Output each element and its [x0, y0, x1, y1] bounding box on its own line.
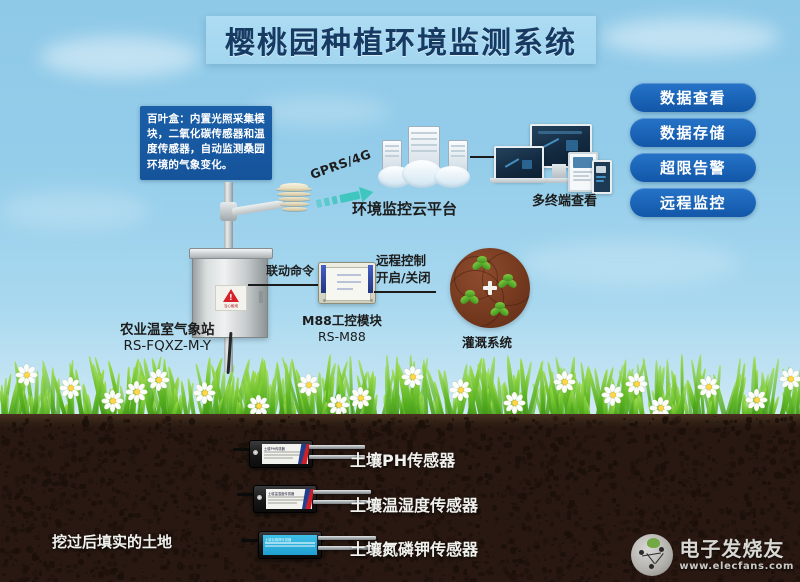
soil-grain	[5, 536, 11, 542]
soil-grain	[429, 484, 431, 486]
soil-grain	[267, 423, 271, 427]
link-command-label: 联动命令	[266, 262, 314, 279]
soil-grain	[241, 455, 247, 460]
soil-grain	[689, 521, 692, 524]
soil-grain	[174, 549, 178, 552]
soil-grain	[562, 422, 566, 425]
soil-grain	[538, 425, 543, 431]
soil-grain	[235, 542, 238, 545]
daisy-flower	[196, 384, 213, 401]
soil-grain	[719, 508, 725, 514]
daisy-flower	[506, 394, 523, 411]
soil-grain	[711, 529, 715, 534]
soil-grain	[8, 497, 12, 500]
soil-grain	[763, 496, 767, 500]
soil-grain	[195, 542, 198, 544]
soil-grain	[634, 519, 639, 522]
soil-grain	[470, 578, 476, 582]
soil-grain	[635, 504, 637, 505]
soil-grain	[442, 566, 444, 568]
feature-button-data-storage[interactable]: 数据存储	[630, 118, 756, 147]
soil-grain	[442, 574, 445, 577]
soil-grain	[198, 519, 200, 521]
soil-grain	[538, 559, 540, 562]
soil-grain	[373, 574, 375, 576]
soil-grain	[165, 472, 171, 476]
soil-grain	[234, 510, 238, 513]
soil-grain	[332, 426, 334, 428]
soil-grain	[195, 475, 197, 476]
soil-grain	[227, 549, 230, 551]
soil-grain	[797, 435, 800, 438]
feature-button-remote-monitor[interactable]: 远程监控	[630, 188, 756, 217]
soil-grain	[147, 519, 153, 524]
soil-grain	[690, 485, 692, 487]
soil-grain	[200, 506, 206, 511]
soil-grain	[19, 569, 21, 571]
soil-grain	[163, 502, 167, 507]
soil-grain	[730, 495, 733, 498]
soil-grain	[230, 483, 232, 486]
soil-grain	[1, 539, 4, 542]
weather-station-name: 农业温室气象站	[120, 318, 215, 338]
soil-grain	[328, 529, 330, 531]
soil-grain	[69, 436, 71, 438]
soil-grain	[44, 425, 49, 428]
soil-grain	[6, 526, 8, 529]
soil-grain	[312, 477, 318, 481]
irrigation-label: 灌溉系统	[462, 332, 512, 351]
soil-grain	[356, 442, 358, 443]
soil-grain	[770, 507, 772, 509]
soil-grain	[529, 436, 534, 440]
soil-grain	[790, 481, 792, 483]
soil-grain	[686, 490, 691, 495]
soil-grain	[749, 437, 755, 443]
soil-grain	[581, 493, 583, 495]
phone-screen	[592, 160, 612, 194]
soil-grain	[663, 489, 668, 492]
soil-grain	[614, 499, 616, 500]
soil-grain	[332, 439, 337, 443]
soil-grain	[313, 458, 319, 464]
soil-grain	[608, 432, 611, 435]
soil-grain	[313, 434, 318, 440]
soil-grain	[750, 448, 752, 450]
soil-grain	[2, 521, 5, 523]
soil-grain	[596, 513, 598, 515]
soil-grain	[394, 519, 397, 522]
soil-grain	[506, 559, 509, 563]
soil-grain	[489, 438, 493, 440]
soil-grain	[332, 449, 334, 452]
soil-grain	[208, 555, 213, 558]
daisy-flower	[556, 373, 573, 390]
soil-grain	[187, 558, 189, 559]
soil-grain	[671, 492, 677, 498]
sky-cloud-decoration	[40, 36, 200, 78]
soil-grain	[132, 462, 136, 464]
soil-grain	[517, 517, 519, 520]
soil-grain	[284, 565, 289, 571]
sensor-body: 土壤氮磷钾传感器	[258, 531, 322, 559]
soil-grain	[750, 508, 756, 515]
soil-grain	[543, 555, 545, 558]
soil-grain	[205, 514, 208, 516]
soil-grain	[329, 462, 335, 466]
soil-grain	[174, 529, 177, 532]
soil-grain	[166, 481, 171, 484]
soil-grain	[219, 501, 224, 505]
soil-grain	[734, 420, 736, 423]
soil-grain	[373, 430, 376, 433]
soil-grain	[657, 517, 660, 519]
page-title-text: 樱桃园种植环境监测系统	[225, 18, 577, 62]
soil-grain	[60, 466, 64, 471]
soil-grain	[442, 516, 444, 518]
soil-grain	[239, 418, 245, 422]
soil-grain	[341, 462, 347, 468]
soil-grain	[758, 471, 762, 475]
soil-grain	[397, 432, 400, 434]
soil-grain	[672, 514, 676, 518]
soil-grain	[99, 426, 105, 431]
soil-grain	[658, 576, 661, 578]
soil-grain	[2, 564, 4, 566]
warning-triangle-icon	[223, 289, 239, 302]
soil-grain	[508, 476, 512, 481]
soil-grain	[694, 500, 696, 501]
soil-grain	[257, 519, 259, 521]
soil-grain	[109, 499, 114, 503]
soil-grain	[638, 457, 644, 461]
soil-grain	[19, 427, 24, 432]
soil-grain	[620, 528, 624, 532]
soil-grain	[734, 529, 738, 532]
soil-grain	[645, 439, 650, 444]
soil-grain	[42, 484, 44, 486]
soil-grain	[437, 437, 441, 439]
soil-grain	[746, 417, 752, 423]
soil-grain	[587, 577, 590, 580]
soil-grain	[477, 457, 479, 458]
soil-grain	[681, 497, 685, 501]
soil-grain	[659, 525, 663, 528]
soil-grain	[418, 525, 423, 529]
soil-grain	[672, 578, 678, 582]
soil-grain	[784, 449, 788, 452]
soil-grain	[589, 519, 591, 521]
soil-grain	[587, 453, 589, 455]
soil-grain	[754, 528, 758, 531]
soil-grain	[235, 514, 237, 516]
soil-grain	[266, 517, 268, 520]
soil-grain	[468, 465, 472, 469]
soil-grain	[320, 478, 322, 480]
soil-grain	[385, 442, 387, 444]
soil-grain	[368, 431, 371, 433]
soil-grain	[160, 432, 162, 434]
feature-button-data-view[interactable]: 数据查看	[630, 83, 756, 112]
soil-grain	[203, 564, 206, 567]
soil-grain	[744, 530, 746, 532]
soil-grain	[133, 426, 136, 430]
soil-grain	[612, 448, 616, 453]
soil-grain	[26, 474, 30, 479]
soil-grain	[518, 550, 521, 552]
soil-grain	[439, 578, 443, 582]
soil-grain	[231, 575, 233, 577]
soil-grain	[430, 577, 434, 581]
soil-grain	[31, 477, 37, 484]
soil-grain	[49, 513, 51, 514]
soil-grain	[327, 551, 330, 553]
soil-grain	[507, 529, 512, 533]
soil-grain	[705, 420, 709, 423]
soil-grain	[651, 481, 655, 486]
daisy-flower	[604, 386, 621, 403]
soil-grain	[674, 504, 679, 509]
soil-grain	[19, 529, 24, 532]
soil-grain	[593, 537, 595, 538]
soil-grain	[648, 507, 650, 509]
soil-grain	[188, 433, 193, 438]
soil-grain	[693, 478, 697, 481]
soil-grain	[129, 448, 135, 454]
soil-grain	[7, 531, 9, 533]
sky-cloud-decoration	[600, 18, 780, 56]
soil-grain	[615, 509, 619, 513]
soil-grain	[706, 519, 710, 524]
soil-grain	[334, 526, 337, 529]
soil-grain	[634, 492, 639, 497]
soil-grain	[638, 484, 641, 487]
soil-grain	[764, 525, 768, 530]
feature-button-threshold-alarm[interactable]: 超限告警	[630, 153, 756, 182]
soil-grain	[686, 422, 690, 425]
watermark-text: 电子发烧友 www.elecfans.com	[679, 539, 794, 572]
soil-ph-sensor-label: 土壤PH传感器	[350, 447, 455, 471]
soil-grain	[490, 493, 494, 498]
soil-grain	[224, 565, 229, 570]
soil-grain	[175, 466, 178, 469]
soil-grain	[498, 451, 501, 454]
soil-grain	[545, 419, 547, 420]
soil-grain	[475, 428, 478, 431]
soil-grain	[664, 450, 668, 453]
soil-grain	[773, 488, 776, 490]
soil-grain	[504, 453, 506, 455]
soil-grain	[4, 504, 10, 508]
soil-grain	[512, 506, 518, 511]
soil-grain	[49, 506, 55, 510]
soil-grain	[6, 465, 11, 469]
daisy-flower	[700, 378, 717, 395]
soil-grain	[339, 481, 345, 489]
daisy-flower	[250, 397, 267, 414]
soil-grain	[492, 505, 498, 511]
soil-grain	[218, 527, 221, 530]
soil-grain	[126, 428, 130, 432]
soil-grain	[179, 420, 182, 423]
soil-grain	[113, 561, 118, 567]
soil-grain	[670, 475, 676, 482]
soil-grain	[626, 550, 629, 553]
soil-grain	[108, 423, 114, 431]
controller-name: M88工控模块	[302, 310, 382, 329]
soil-grain	[433, 488, 436, 490]
soil-grain	[0, 463, 2, 464]
soil-grain	[1, 440, 6, 444]
soil-grain	[616, 504, 620, 507]
soil-grain	[465, 476, 471, 481]
connector-controller-to-irrigation	[374, 291, 436, 293]
soil-grain	[11, 550, 14, 553]
soil-grain	[527, 574, 533, 580]
soil-grain	[486, 554, 491, 559]
soil-grain	[296, 469, 298, 471]
soil-grain	[769, 493, 772, 495]
monitor-stand	[552, 164, 566, 178]
soil-grain	[645, 434, 651, 438]
soil-grain	[792, 501, 795, 504]
soil-grain	[466, 429, 470, 434]
soil-grain	[288, 416, 290, 418]
soil-grain	[335, 533, 337, 535]
soil-grain	[1, 524, 3, 526]
soil-grain	[534, 478, 537, 481]
soil-grain	[690, 506, 692, 507]
soil-grain	[257, 420, 263, 426]
soil-grain	[226, 542, 228, 544]
soil-grain	[228, 441, 233, 444]
daisy-flower	[452, 381, 469, 398]
soil-grain	[308, 469, 312, 474]
soil-grain	[179, 578, 182, 582]
soil-grain	[682, 508, 684, 510]
soil-grain	[481, 546, 484, 548]
soil-grain	[104, 554, 107, 558]
daisy-flower	[404, 368, 421, 385]
daisy-flower	[352, 389, 369, 406]
soil-grain	[49, 423, 52, 426]
watermark: 电子发烧友 www.elecfans.com	[631, 534, 794, 576]
soil-grain	[484, 561, 489, 565]
soil-grain	[477, 561, 481, 564]
soil-grain	[545, 497, 551, 504]
soil-grain	[567, 564, 571, 567]
soil-grain	[569, 417, 575, 422]
soil-grain	[699, 462, 705, 467]
soil-grain	[33, 517, 37, 521]
soil-grain	[238, 568, 240, 570]
soil-grain	[209, 514, 215, 520]
soil-grain	[672, 429, 674, 430]
soil-grain	[77, 553, 80, 557]
soil-grain	[506, 519, 508, 521]
weather-station-label: 农业温室气象站 RS-FQXZ-M-Y	[120, 318, 215, 354]
soil-grain	[784, 517, 786, 519]
soil-grain	[579, 524, 581, 526]
feature-button-label: 远程监控	[660, 192, 726, 213]
soil-grain	[82, 419, 88, 427]
soil-grain	[268, 524, 271, 527]
soil-grain	[569, 497, 572, 499]
soil-grain	[714, 470, 716, 472]
soil-grain	[466, 426, 470, 429]
soil-grain	[603, 489, 609, 493]
soil-grain	[140, 440, 143, 444]
soil-grain	[174, 471, 179, 476]
soil-grain	[458, 522, 460, 524]
soil-grain	[475, 464, 479, 468]
soil-grain	[336, 523, 338, 524]
soil-grain	[54, 558, 56, 560]
soil-grain	[248, 529, 250, 531]
soil-grain	[521, 430, 527, 434]
soil-grain	[607, 563, 611, 568]
soil-grain	[156, 521, 160, 526]
soil-grain	[602, 454, 605, 457]
soil-grain	[347, 519, 353, 523]
soil-grain	[109, 479, 114, 484]
soil-grain	[478, 476, 482, 481]
soil-grain	[709, 468, 712, 470]
soil-grain	[582, 527, 586, 531]
soil-grain	[591, 435, 596, 438]
soil-grain	[615, 563, 619, 566]
soil-grain	[731, 426, 735, 431]
soil-grain	[376, 484, 382, 488]
soil-grain	[25, 453, 31, 458]
soil-grain	[469, 484, 472, 486]
m88-terminal-right	[368, 265, 373, 293]
sky-cloud-decoration	[0, 190, 150, 230]
soil-grain	[520, 573, 524, 576]
soil-grain	[715, 518, 717, 520]
soil-grain	[782, 452, 784, 453]
soil-grain	[277, 564, 280, 568]
soil-grain	[667, 500, 672, 503]
daisy-flower	[150, 371, 167, 388]
soil-grain	[109, 475, 111, 477]
soil-grain	[716, 428, 720, 432]
soil-grain	[148, 479, 150, 481]
daisy-flower	[18, 366, 35, 383]
soil-grain	[596, 551, 601, 557]
soil-grain	[386, 563, 390, 568]
soil-grain	[199, 443, 205, 447]
soil-grain	[497, 492, 499, 494]
soil-grain	[286, 480, 290, 482]
soil-grain	[344, 434, 346, 435]
soil-grain	[46, 566, 50, 571]
soil-grain	[283, 518, 287, 523]
soil-grain	[211, 533, 214, 535]
soil-grain	[258, 522, 263, 528]
soil-grain	[735, 472, 741, 476]
soil-grain	[97, 451, 103, 458]
soil-grain	[610, 426, 612, 427]
soil-grain	[522, 487, 526, 490]
soil-grain	[203, 483, 206, 485]
cloud-platform-icon	[378, 126, 474, 188]
soil-grain	[181, 451, 184, 455]
soil-grain	[78, 457, 82, 462]
soil-grain	[138, 420, 140, 422]
soil-grain	[513, 574, 519, 580]
soil-grain	[434, 560, 438, 565]
